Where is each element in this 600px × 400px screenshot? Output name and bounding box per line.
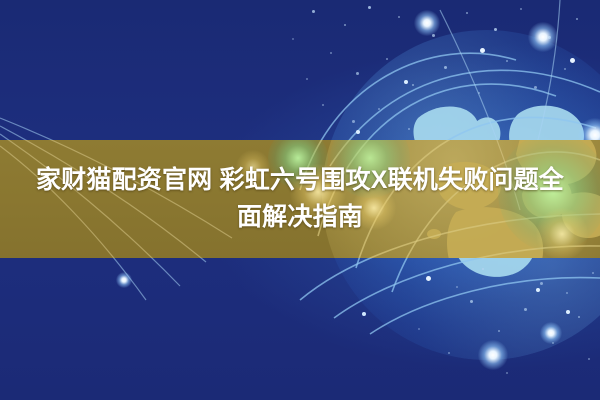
banner-title: 家财猫配资官网 彩虹六号围攻X联机失败问题全面解决指南 (26, 162, 574, 236)
banner-title-container: 家财猫配资官网 彩虹六号围攻X联机失败问题全面解决指南 (0, 140, 600, 258)
banner-image: 家财猫配资官网 彩虹六号围攻X联机失败问题全面解决指南 (0, 0, 600, 400)
